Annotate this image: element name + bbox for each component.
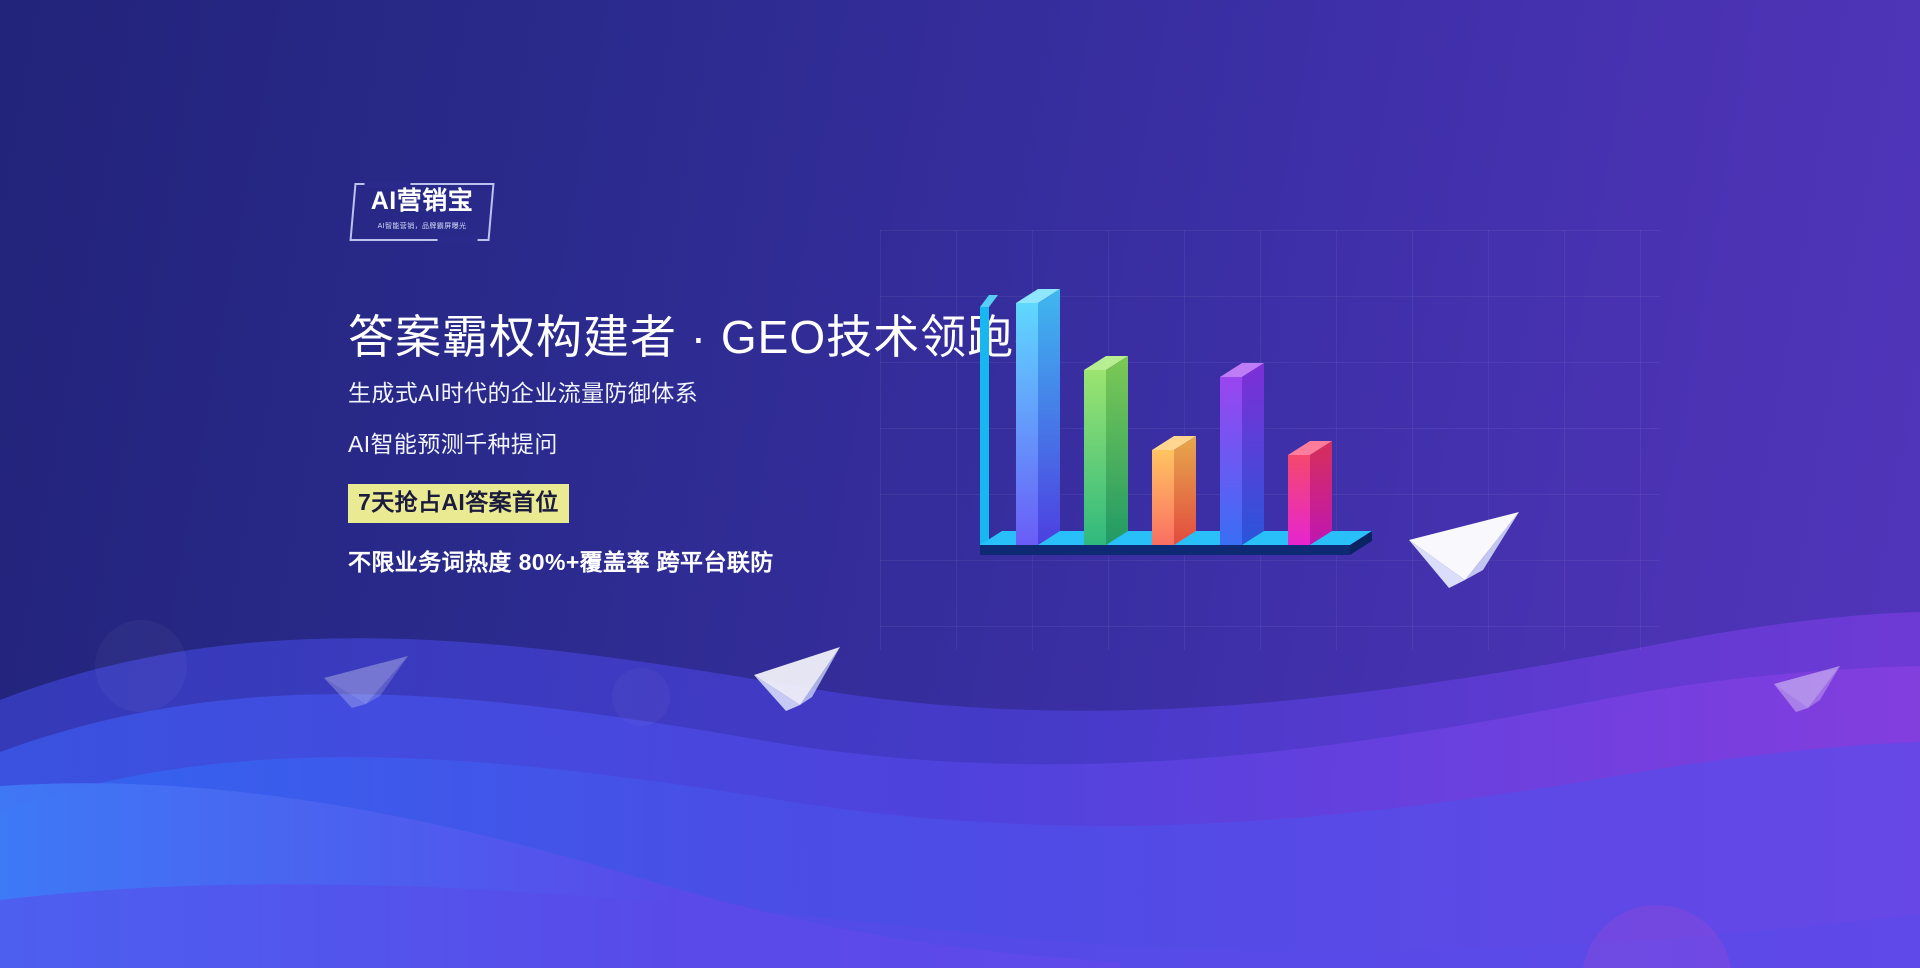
paper-plane-chart-right [1405,508,1525,596]
hero-banner: AI营销宝 AI智能营销，品牌霸屏曝光 答案霸权构建者 · GEO技术领跑者 生… [0,0,1920,968]
brand-logo[interactable]: AI营销宝 AI智能营销，品牌霸屏曝光 [352,183,492,241]
logo-name: AI营销宝 [352,189,492,214]
headline: 答案霸权构建者 · GEO技术领跑者 [348,310,1048,364]
decor-circle-bottom-right [1582,905,1732,968]
paper-plane-left [322,650,412,712]
highlight-badge: 7天抢占AI答案首位 [348,484,569,523]
decor-circle-mid [612,668,670,726]
bar-chart [980,295,1400,665]
highlight-row: 7天抢占AI答案首位 [348,484,1048,523]
chart-bar-2 [1084,356,1128,545]
paper-plane-far-right [1772,662,1844,714]
paper-plane-mid [752,645,844,717]
chart-bar-3 [1152,436,1196,545]
decor-circle-left [95,620,187,712]
logo-tagline: AI智能营销，品牌霸屏曝光 [352,221,492,231]
chart-y-axis [980,295,998,545]
secondary-line: AI智能预测千种提问 [348,433,1048,456]
feature-line: 不限业务词热度 80%+覆盖率 跨平台联防 [348,551,1048,574]
hero-copy: 答案霸权构建者 · GEO技术领跑者 生成式AI时代的企业流量防御体系 AI智能… [348,310,1048,574]
chart-bar-4 [1220,363,1264,545]
subtitle: 生成式AI时代的企业流量防御体系 [348,382,1048,405]
chart-bar-1 [1016,289,1060,545]
chart-bar-5 [1288,441,1332,545]
